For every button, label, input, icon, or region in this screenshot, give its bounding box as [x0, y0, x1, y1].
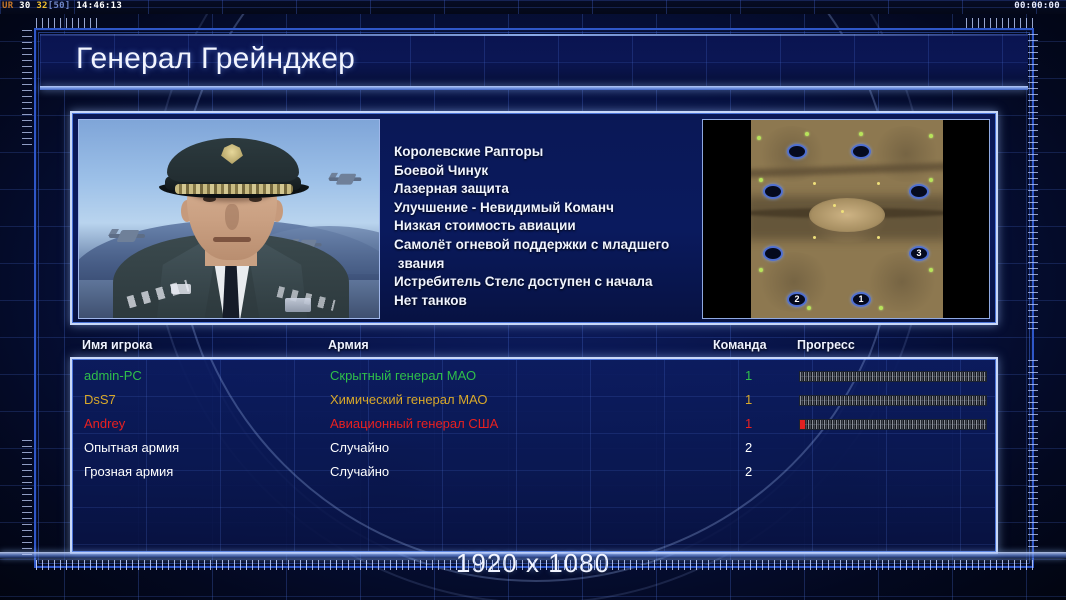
- status-bar-right: 00:00:00: [1014, 1, 1060, 11]
- player-team: 1: [745, 416, 752, 431]
- map-start-position[interactable]: [851, 144, 871, 159]
- portrait-cap-scrambled-eggs: [175, 184, 293, 194]
- title-bar-topline: [40, 34, 1028, 36]
- column-header-team: Команда: [713, 338, 767, 352]
- table-row[interactable]: DsS7Химический генерал МАО1: [72, 389, 996, 413]
- page-title: Генерал Грейнджер: [76, 42, 355, 76]
- player-name: Опытная армия: [84, 440, 179, 455]
- player-name: admin-PC: [84, 368, 142, 383]
- player-team: 2: [745, 464, 752, 479]
- map-start-position[interactable]: [787, 144, 807, 159]
- ruler-bottom: [36, 560, 1036, 570]
- map-preview: 321: [702, 119, 990, 319]
- column-header-army: Армия: [328, 338, 369, 352]
- table-row[interactable]: Опытная армияСлучайно2: [72, 437, 996, 461]
- column-header-progress: Прогресс: [797, 338, 855, 352]
- status-bar-grid: [0, 0, 1066, 14]
- ruler-left: [22, 30, 32, 150]
- player-name: DsS7: [84, 392, 116, 407]
- general-info-panel: Королевские Рапторы Боевой Чинук Лазерна…: [70, 111, 998, 325]
- ruler-right: [1028, 34, 1038, 334]
- status-value-a: 30: [19, 1, 30, 11]
- portrait-mouth: [213, 237, 251, 242]
- map-resource-marker: [859, 132, 863, 136]
- player-team: 1: [745, 368, 752, 383]
- status-clock: 14:46:13: [76, 1, 122, 11]
- map-tech-marker: [877, 236, 880, 239]
- portrait-nose: [225, 204, 239, 230]
- map-tech-marker: [833, 204, 836, 207]
- player-progress-bar: [799, 371, 987, 382]
- map-tech-marker: [813, 182, 816, 185]
- map-terrain-patch: [865, 252, 939, 312]
- player-progress-bar: [799, 395, 987, 406]
- map-resource-marker: [879, 306, 883, 310]
- status-value-c: [50]: [48, 1, 71, 11]
- map-start-position[interactable]: [909, 184, 929, 199]
- portrait-us-insignia: [171, 284, 191, 294]
- map-tech-marker: [813, 236, 816, 239]
- title-bar: Генерал Грейнджер: [40, 34, 1028, 90]
- player-name: Andrey: [84, 416, 125, 431]
- player-army: Случайно: [330, 440, 389, 455]
- ruler-left-lower: [22, 440, 32, 558]
- player-team: 2: [745, 440, 752, 455]
- table-row[interactable]: Грозная армияСлучайно2: [72, 461, 996, 485]
- player-team: 1: [745, 392, 752, 407]
- ruler-right-lower: [1028, 360, 1038, 550]
- map-tech-marker: [877, 182, 880, 185]
- map-start-position[interactable]: 3: [909, 246, 929, 261]
- player-army: Авиационный генерал США: [330, 416, 498, 431]
- map-center-area: [809, 198, 885, 232]
- player-army: Случайно: [330, 464, 389, 479]
- column-header-name: Имя игрока: [82, 338, 152, 352]
- ruler-top-left: [36, 18, 98, 28]
- player-progress-bar: [799, 419, 987, 430]
- map-image: 321: [751, 120, 943, 319]
- map-resource-marker: [757, 136, 761, 140]
- general-portrait: [78, 119, 380, 319]
- title-bar-underline: [40, 86, 1028, 90]
- ruler-top-right: [966, 18, 1036, 28]
- map-start-position[interactable]: [763, 184, 783, 199]
- map-resource-marker: [807, 306, 811, 310]
- map-resource-marker: [759, 268, 763, 272]
- player-army: Химический генерал МАО: [330, 392, 488, 407]
- status-bar: UR 30 32[50] 14:46:13 00:00:00: [0, 0, 1066, 14]
- player-name: Грозная армия: [84, 464, 173, 479]
- game-loading-screen: UR 30 32[50] 14:46:13 00:00:00 Генерал Г…: [0, 0, 1066, 600]
- table-row[interactable]: AndreyАвиационный генерал США1: [72, 413, 996, 437]
- player-army: Скрытный генерал МАО: [330, 368, 476, 383]
- player-table: admin-PCСкрытный генерал МАО1DsS7Химичес…: [70, 357, 998, 554]
- player-table-header: Имя игрока Армия Команда Прогресс: [70, 338, 998, 358]
- map-start-position[interactable]: 2: [787, 292, 807, 307]
- map-tech-marker: [841, 210, 844, 213]
- map-resource-marker: [929, 268, 933, 272]
- status-prefix: UR: [2, 1, 13, 11]
- table-row[interactable]: admin-PCСкрытный генерал МАО1: [72, 365, 996, 389]
- map-start-position[interactable]: 1: [851, 292, 871, 307]
- map-resource-marker: [929, 134, 933, 138]
- map-resource-marker: [929, 178, 933, 182]
- map-resource-marker: [805, 132, 809, 136]
- portrait-name-tag: [285, 298, 311, 312]
- status-value-b: 32: [36, 1, 47, 11]
- status-bar-left: UR 30 32[50] 14:46:13: [2, 1, 122, 11]
- map-resource-marker: [759, 178, 763, 182]
- map-start-position[interactable]: [763, 246, 783, 261]
